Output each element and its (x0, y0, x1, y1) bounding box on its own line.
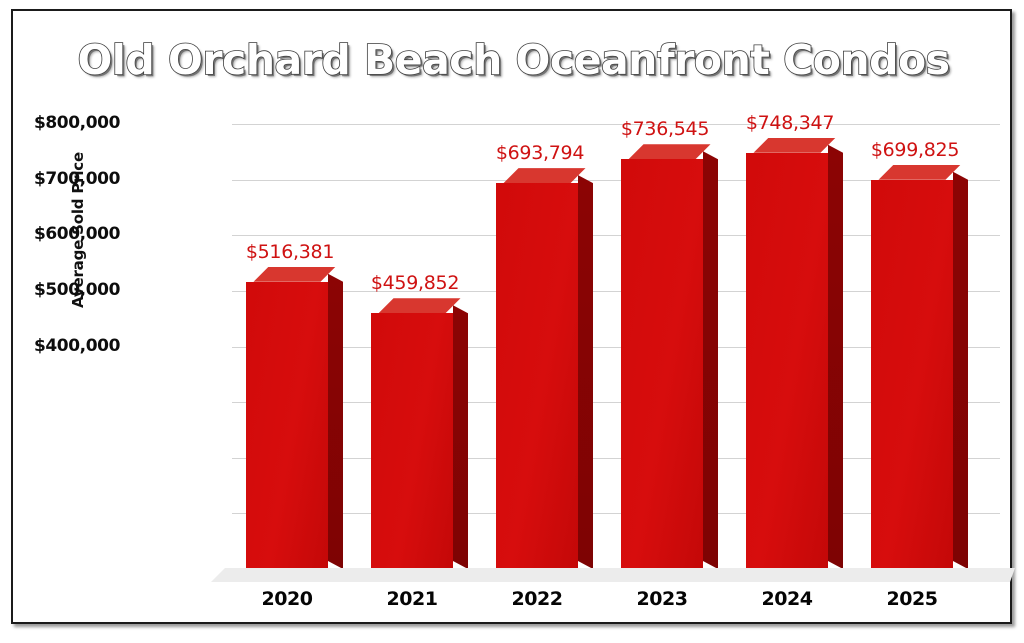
bar-side-face (828, 145, 843, 569)
bar-top-face (379, 298, 461, 313)
bar-value-label-2023: $736,545 (607, 118, 723, 140)
floor-surface (211, 568, 1015, 582)
plot-area: $800,000$700,000$600,000$500,000$400,000… (232, 105, 1008, 575)
bar-front-face (621, 159, 703, 569)
bar-2025 (871, 180, 953, 569)
x-label-2020: 2020 (236, 588, 338, 610)
bar-side-face (953, 172, 968, 569)
bar-2021 (371, 313, 453, 569)
bar-front-face (371, 313, 453, 569)
bar-value-label-2024: $748,347 (732, 112, 848, 134)
y-tick-label: $600,000 (0, 224, 120, 244)
bar-2022 (496, 183, 578, 569)
chart-floor-plate (211, 568, 1015, 582)
x-label-2024: 2024 (736, 588, 838, 610)
y-tick-label: $500,000 (0, 280, 120, 300)
x-label-2025: 2025 (861, 588, 963, 610)
bar-side-face (578, 175, 593, 569)
bar-side-face (328, 274, 343, 569)
bar-top-face (504, 168, 586, 183)
bar-value-label-2020: $516,381 (232, 241, 348, 263)
bar-2024 (746, 153, 828, 569)
bar-front-face (496, 183, 578, 569)
y-tick-label: $800,000 (0, 113, 120, 133)
y-tick-label: $700,000 (0, 169, 120, 189)
screenshot-root: Old Orchard Beach Oceanfront Condos Aver… (0, 0, 1024, 643)
y-tick-label: $400,000 (0, 336, 120, 356)
bar-value-label-2022: $693,794 (482, 142, 598, 164)
chart-title: Old Orchard Beach Oceanfront Condos (13, 36, 1014, 84)
bar-value-label-2021: $459,852 (357, 272, 473, 294)
x-label-2021: 2021 (361, 588, 463, 610)
bar-front-face (746, 153, 828, 569)
x-label-2022: 2022 (486, 588, 588, 610)
x-label-2023: 2023 (611, 588, 713, 610)
bar-2020 (246, 282, 328, 569)
bar-2023 (621, 159, 703, 569)
bar-side-face (453, 305, 468, 569)
bar-top-face (754, 138, 836, 153)
bar-top-face (629, 144, 711, 159)
bar-side-face (703, 151, 718, 569)
bar-top-face (879, 165, 961, 180)
bar-front-face (871, 180, 953, 569)
bar-front-face (246, 282, 328, 569)
bar-value-label-2025: $699,825 (857, 139, 973, 161)
bar-top-face (254, 267, 336, 282)
chart-frame: Old Orchard Beach Oceanfront Condos Aver… (11, 9, 1012, 624)
